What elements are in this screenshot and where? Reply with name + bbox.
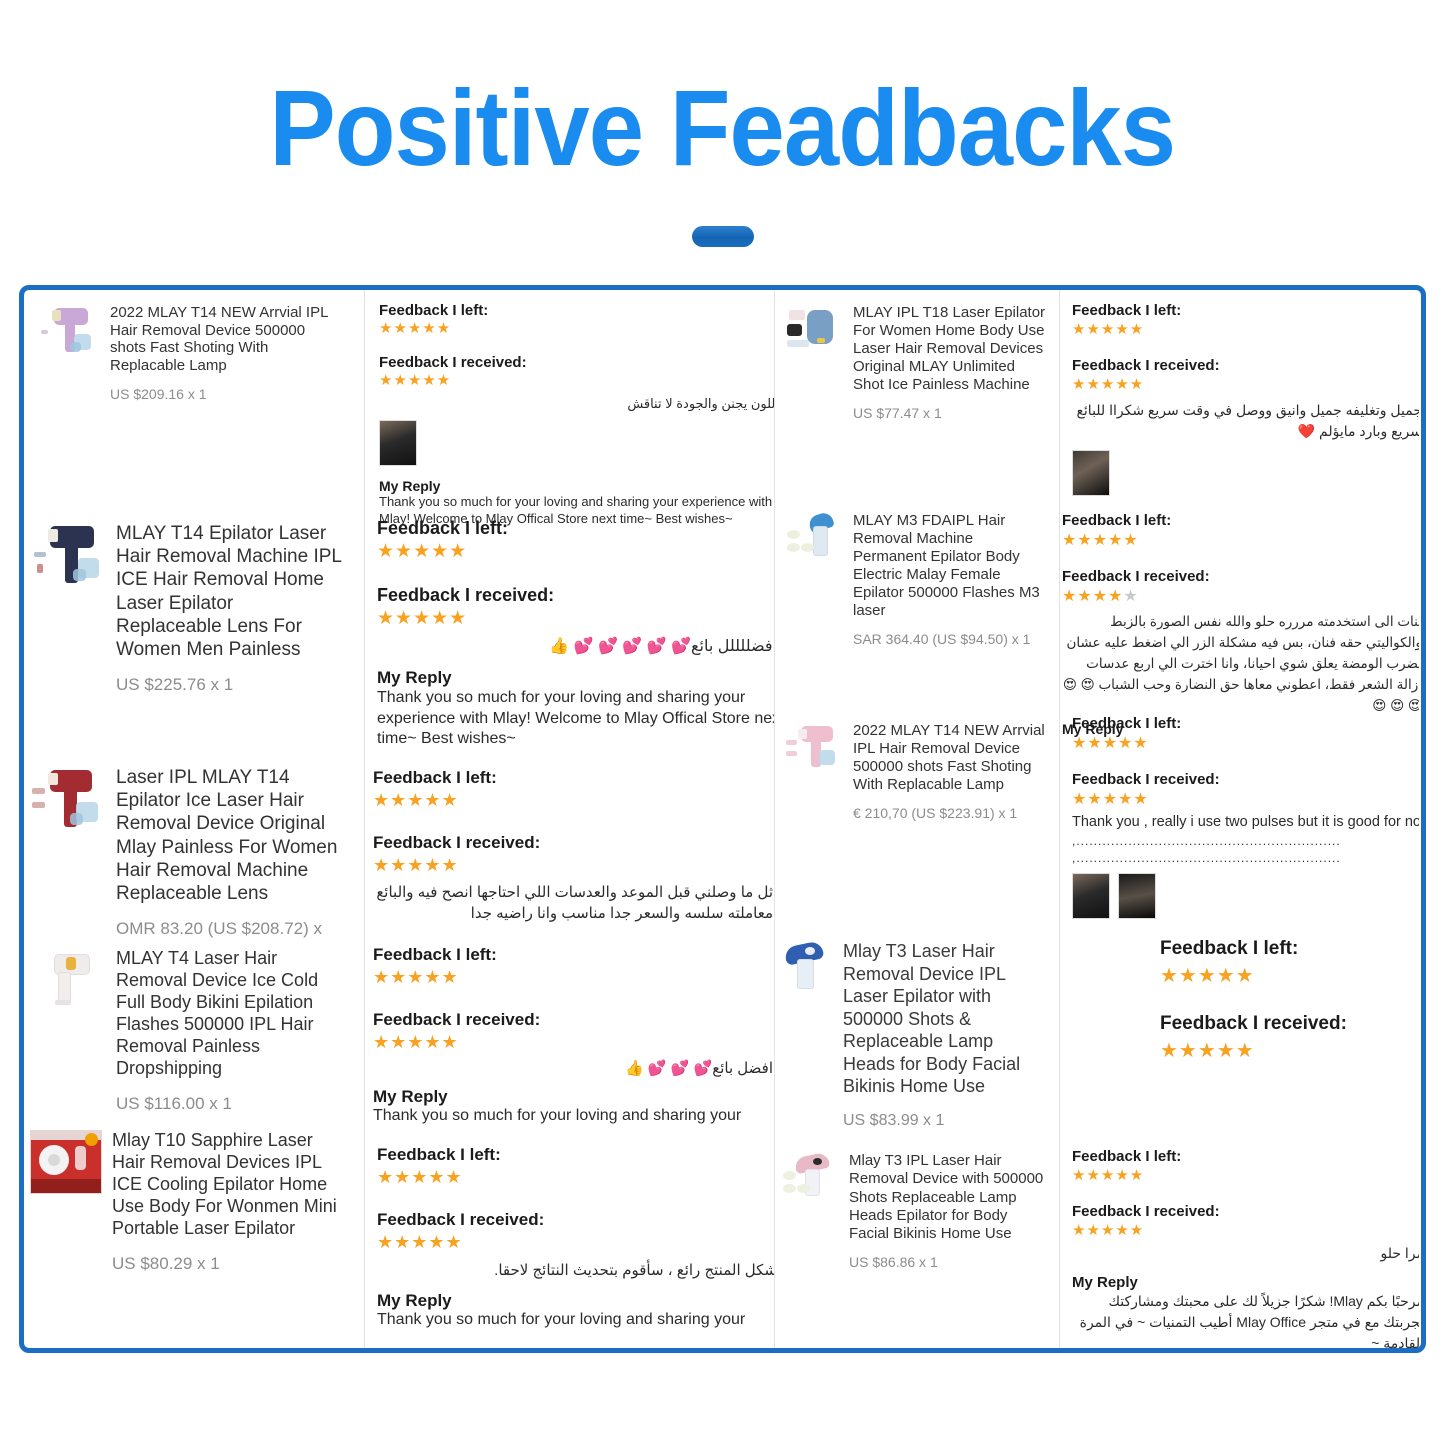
feedback-entry: Feedback I left: ★★★★★ Feedback I receiv…	[373, 768, 773, 925]
product-item[interactable]: 2022 MLAY T14 NEW Arrvial IPL Hair Remov…	[785, 722, 1050, 822]
feedback-entry: Feedback I left: ★★★★★ Feedback I receiv…	[1062, 512, 1419, 737]
product-item[interactable]: MLAY IPL T18 Laser Epilator For Women Ho…	[785, 304, 1050, 422]
stars-received: ★★★★★	[377, 609, 774, 630]
ipl-device-white-thumb-icon	[32, 948, 106, 1016]
feedback-left-label: Feedback I left:	[377, 1145, 774, 1165]
page-header: Positive Feadbacks	[0, 0, 1445, 182]
product-price: US $83.99 x 1	[843, 1111, 1050, 1131]
product-price: € 210,70 (US $223.91) x 1	[853, 805, 1050, 822]
stars-left: ★★★★★	[1072, 322, 1419, 339]
product-item[interactable]: 2022 MLAY T14 NEW Arrvial IPL Hair Remov…	[40, 304, 340, 403]
product-item[interactable]: MLAY M3 FDAIPL Hair Removal Machine Perm…	[785, 512, 1050, 648]
review-text: افضللللل بائع💕 💕 💕 💕 💕 👍	[377, 636, 774, 656]
ipl-device-boxart-thumb-icon	[30, 1130, 102, 1200]
review-photos[interactable]	[1072, 873, 1419, 919]
ipl-device-m3-thumb-icon	[785, 512, 843, 569]
feedback-left-label: Feedback I left:	[1072, 715, 1419, 732]
stars-left: ★★★★★	[377, 542, 774, 563]
feedback-received-label: Feedback I received:	[1072, 771, 1419, 788]
review-text: افضل بائع💕 💕 💕 👍	[373, 1059, 773, 1077]
product-item[interactable]: MLAY T14 Epilator Laser Hair Removal Mac…	[34, 522, 344, 696]
review-text: اللون يجنن والجودة لا تناقش	[379, 396, 774, 412]
feedback-entry: Feedback I left: ★★★★★ Feedback I receiv…	[1160, 938, 1419, 1062]
stars-received: ★★★★★	[379, 373, 774, 390]
reply-text: Thank you so much for your loving and sh…	[377, 688, 774, 750]
product-title: MLAY IPL T18 Laser Epilator For Women Ho…	[853, 304, 1050, 394]
product-item[interactable]: MLAY T4 Laser Hair Removal Device Ice Co…	[32, 948, 344, 1114]
review-text: ثل ما وصلني قبل الموعد والعدسات اللي احت…	[373, 882, 773, 926]
reply-header: My Reply	[377, 1291, 774, 1311]
product-item[interactable]: Mlay T3 Laser Hair Removal Device IPL La…	[775, 940, 1050, 1131]
feedback-left-label: Feedback I left:	[1072, 302, 1419, 319]
feedback-received-label: Feedback I received:	[373, 1010, 773, 1030]
review-text: Thank you , really i use two pulses but …	[1072, 814, 1419, 830]
feedback-column-left: Feedback I left: ★★★★★ Feedback I receiv…	[364, 290, 774, 1348]
reply-header: My Reply	[379, 478, 774, 494]
feedback-entry: Feedback I left: ★★★★★ Feedback I receiv…	[377, 1145, 774, 1329]
feedback-left-label: Feedback I left:	[373, 945, 773, 965]
divider-pill-icon	[692, 226, 754, 247]
review-text: بنات الى استخدمته مررره حلو والله نفس ال…	[1062, 612, 1419, 717]
feedback-left-label: Feedback I left:	[1072, 1148, 1419, 1165]
feedback-received-label: Feedback I received:	[377, 585, 774, 606]
product-price: US $116.00 x 1	[116, 1094, 344, 1115]
feedback-left-label: Feedback I left:	[1160, 938, 1419, 960]
review-text: شكل المنتج رائع ، سأقوم بتحديث النتائج ل…	[377, 1261, 774, 1279]
product-price: SAR 364.40 (US $94.50) x 1	[853, 631, 1050, 648]
stars-received: ★★★★★	[1072, 791, 1419, 809]
stars-left: ★★★★★	[1160, 965, 1419, 987]
stars-left: ★★★★★	[377, 1168, 774, 1188]
product-title: Mlay T3 IPL Laser Hair Removal Device wi…	[849, 1152, 1049, 1243]
stars-left: ★★★★★	[373, 968, 773, 988]
feedback-entry: Feedback I left: ★★★★★ Feedback I receiv…	[373, 945, 773, 1125]
product-item[interactable]: Mlay T10 Sapphire Laser Hair Removal Dev…	[30, 1130, 342, 1275]
feedback-left-label: Feedback I left:	[377, 518, 774, 539]
product-price: US $209.16 x 1	[110, 386, 340, 402]
product-title: MLAY T14 Epilator Laser Hair Removal Mac…	[116, 522, 344, 661]
product-title: MLAY M3 FDAIPL Hair Removal Machine Perm…	[853, 512, 1050, 620]
ipl-device-purple-thumb-icon	[40, 304, 100, 363]
reply-text: Thank you so much for your loving and sh…	[377, 1311, 774, 1329]
review-photo-thumb[interactable]	[1072, 873, 1110, 919]
stars-received: ★★★★★	[1072, 1223, 1419, 1240]
feedback-entry: Feedback I left: ★★★★★ Feedback I receiv…	[377, 518, 774, 750]
product-price: US $225.76 x 1	[116, 675, 344, 696]
product-price: US $86.86 x 1	[849, 1254, 1049, 1271]
ipl-device-t3-pink-thumb-icon	[781, 1152, 839, 1209]
feedback-received-label: Feedback I received:	[1160, 1013, 1419, 1035]
product-column-left: 2022 MLAY T14 NEW Arrvial IPL Hair Remov…	[24, 290, 364, 1348]
stars-received: ★★★★★	[377, 1233, 774, 1253]
feedback-left-label: Feedback I left:	[373, 768, 773, 788]
ipl-device-t3-blue-thumb-icon	[775, 940, 833, 1002]
stars-received: ★★★★★	[373, 1033, 773, 1053]
review-text: جميل وتغليفه جميل وانيق ووصل في وقت سريع…	[1072, 400, 1419, 442]
review-dots-line: ,.......................................…	[1072, 851, 1419, 865]
reply-text: Thank you so much for your loving and sh…	[373, 1107, 773, 1125]
stars-received: ★★★★★	[373, 856, 773, 876]
columns-wrapper: 2022 MLAY T14 NEW Arrvial IPL Hair Remov…	[24, 290, 1421, 1348]
feedback-left-label: Feedback I left:	[1062, 512, 1419, 529]
product-item[interactable]: Mlay T3 IPL Laser Hair Removal Device wi…	[781, 1152, 1049, 1272]
product-item[interactable]: Laser IPL MLAY T14 Epilator Ice Laser Ha…	[32, 766, 342, 940]
product-title: Mlay T10 Sapphire Laser Hair Removal Dev…	[112, 1130, 342, 1240]
star-empty: ★	[1123, 588, 1138, 605]
ipl-device-navy-thumb-icon	[34, 522, 106, 594]
product-title: Mlay T3 Laser Hair Removal Device IPL La…	[843, 940, 1050, 1098]
feedback-received-label: Feedback I received:	[1072, 1203, 1419, 1220]
product-price: US $77.47 x 1	[853, 405, 1050, 422]
review-dots-line: ,.......................................…	[1072, 834, 1419, 848]
feedback-received-label: Feedback I received:	[377, 1210, 774, 1230]
stars-received: ★★★★★	[1062, 588, 1419, 606]
reply-header: My Reply	[1072, 1274, 1419, 1291]
review-photos[interactable]	[1072, 450, 1419, 496]
feedback-received-label: Feedback I received:	[1072, 357, 1419, 374]
reply-header: My Reply	[377, 668, 774, 688]
stars-left: ★★★★★	[1072, 735, 1419, 753]
reply-header: My Reply	[373, 1087, 773, 1107]
ipl-device-blue-case-thumb-icon	[785, 304, 843, 361]
product-title: 2022 MLAY T14 NEW Arrvial IPL Hair Remov…	[853, 722, 1050, 794]
feedback-received-label: Feedback I received:	[379, 354, 774, 371]
stars-left: ★★★★★	[373, 791, 773, 811]
product-title: MLAY T4 Laser Hair Removal Device Ice Co…	[116, 948, 344, 1080]
stars-filled: ★★★★	[1062, 588, 1123, 605]
stars-received: ★★★★★	[1160, 1040, 1419, 1062]
feedback-received-label: Feedback I received:	[373, 833, 773, 853]
stars-left: ★★★★★	[1072, 1168, 1419, 1185]
ipl-device-red-thumb-icon	[32, 766, 106, 838]
reply-text: مرحبًا بكم Mlay! شكرًا جزيلاً لك على محب…	[1072, 1291, 1419, 1348]
review-photo-thumb[interactable]	[1072, 450, 1110, 496]
product-column-right: MLAY IPL T18 Laser Epilator For Women Ho…	[774, 290, 1059, 1348]
page-title: Positive Feadbacks	[270, 74, 1176, 182]
feedback-entry: Feedback I left: ★★★★★ Feedback I receiv…	[379, 302, 774, 528]
product-title: 2022 MLAY T14 NEW Arrvial IPL Hair Remov…	[110, 304, 340, 374]
feedback-column-right: Feedback I left: ★★★★★ Feedback I receiv…	[1059, 290, 1419, 1348]
feedback-panel: 2022 MLAY T14 NEW Arrvial IPL Hair Remov…	[19, 285, 1426, 1353]
product-title: Laser IPL MLAY T14 Epilator Ice Laser Ha…	[116, 766, 342, 905]
review-photo-thumb[interactable]	[379, 420, 417, 466]
feedback-received-label: Feedback I received:	[1062, 568, 1419, 585]
review-text: مرا حلو	[1072, 1245, 1419, 1262]
stars-left: ★★★★★	[1062, 532, 1419, 550]
feedback-entry: Feedback I left: ★★★★★ Feedback I receiv…	[1072, 1148, 1419, 1348]
ipl-device-pink-thumb-icon	[785, 722, 843, 779]
product-price: US $80.29 x 1	[112, 1254, 342, 1275]
feedback-left-label: Feedback I left:	[379, 302, 774, 319]
stars-received: ★★★★★	[1072, 377, 1419, 394]
review-photos[interactable]	[379, 420, 774, 466]
feedback-entry: Feedback I left: ★★★★★ Feedback I receiv…	[1072, 302, 1419, 496]
stars-left: ★★★★★	[379, 321, 774, 338]
review-photo-thumb[interactable]	[1118, 873, 1156, 919]
pill-container	[0, 226, 1445, 252]
product-price: OMR 83.20 (US $208.72) x	[116, 919, 342, 940]
feedback-entry: Feedback I left: ★★★★★ Feedback I receiv…	[1072, 715, 1419, 919]
